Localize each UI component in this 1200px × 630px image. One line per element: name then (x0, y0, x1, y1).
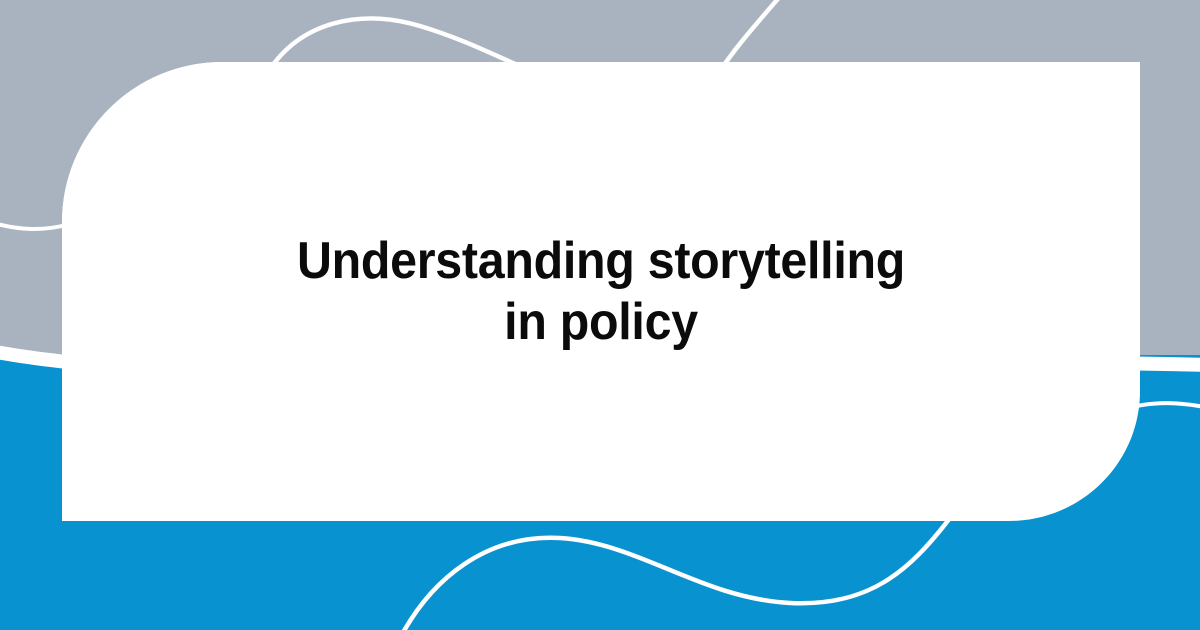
share-card-canvas: Understanding storytelling in policy (0, 0, 1200, 630)
content-card: Understanding storytelling in policy (62, 62, 1140, 521)
page-title: Understanding storytelling in policy (289, 231, 912, 352)
